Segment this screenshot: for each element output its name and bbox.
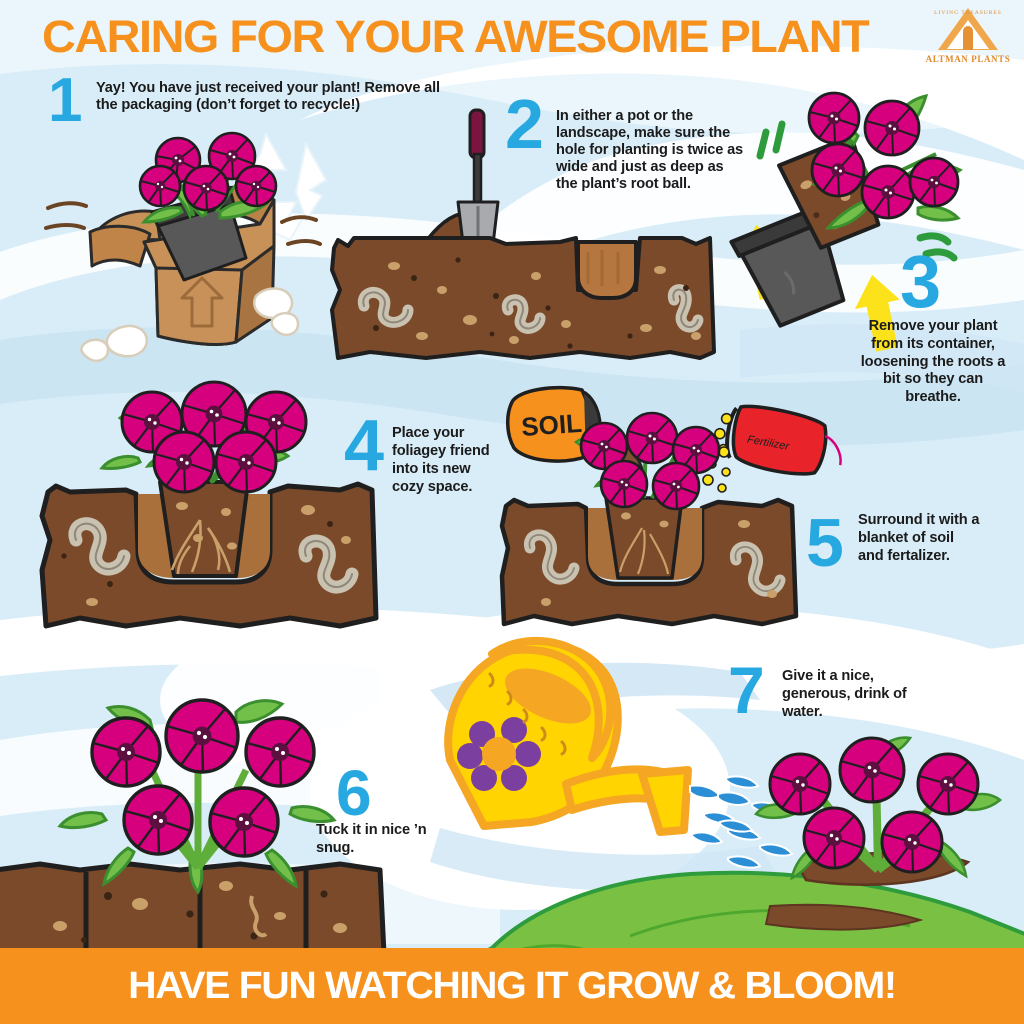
flowers-step5 — [581, 413, 719, 509]
soil-bag-label: SOIL — [520, 408, 583, 442]
illustration-step-3 — [742, 78, 1002, 358]
watering-can — [432, 618, 762, 888]
illustration-step-6 — [40, 690, 380, 950]
step-text-5: Surround it with a blanket of soil and f… — [858, 512, 980, 565]
fertilizer-box: Fertilizer — [710, 400, 848, 482]
step-text-3: Remove your plant from its container, lo… — [858, 318, 1008, 407]
illustration-step-1 — [60, 120, 370, 360]
step-number-4: 4 — [344, 418, 384, 476]
petunia-plant-4 — [102, 382, 306, 492]
petunia-plant-7 — [756, 738, 1000, 878]
page-title: CARING FOR YOUR AWESOME PLANT — [42, 14, 868, 59]
logo-tagline: LIVING TREASURES — [933, 10, 1003, 16]
step-text-4: Place your foliagey friend into its new … — [392, 424, 496, 496]
petunia-plant-5 — [576, 413, 719, 509]
petunia-plant-1 — [140, 133, 276, 222]
step-number-6: 6 — [336, 768, 372, 819]
can-rose — [642, 770, 688, 832]
petunia-plant-6 — [60, 700, 334, 892]
header: CARING FOR YOUR AWESOME PLANT LIVING TRE… — [0, 0, 1024, 70]
footer-text: HAVE FUN WATCHING IT GROW & BLOOM! — [0, 966, 1024, 1006]
step-number-3: 3 — [900, 252, 941, 311]
root-ball-4 — [160, 482, 248, 576]
step-text-7: Give it a nice, generous, drink of water… — [782, 668, 922, 721]
step-number-1: 1 — [48, 76, 82, 126]
step-number-7: 7 — [728, 664, 765, 717]
flowers-step1 — [140, 133, 276, 210]
flowers-step6 — [92, 700, 314, 856]
footer-banner: HAVE FUN WATCHING IT GROW & BLOOM! — [0, 948, 1024, 1024]
step-number-2: 2 — [505, 96, 544, 152]
step-text-6: Tuck it in nice ’n snug. — [316, 822, 456, 857]
illustration-step-4 — [40, 370, 380, 630]
brand-logo: LIVING TREASURES ALTMAN PLANTS — [925, 6, 1011, 66]
step-text-1: Yay! You have just received your plant! … — [96, 80, 446, 114]
logo-brand-name: ALTMAN PLANTS — [925, 54, 1011, 64]
illustration-step-7 — [746, 742, 1024, 942]
logo-arch-icon — [963, 26, 973, 50]
infographic-poster: CARING FOR YOUR AWESOME PLANT LIVING TRE… — [0, 0, 1024, 1024]
step-number-5: 5 — [806, 516, 844, 570]
root-ball-5 — [606, 498, 682, 578]
step-text-2: In either a pot or the landscape, make s… — [556, 108, 746, 193]
